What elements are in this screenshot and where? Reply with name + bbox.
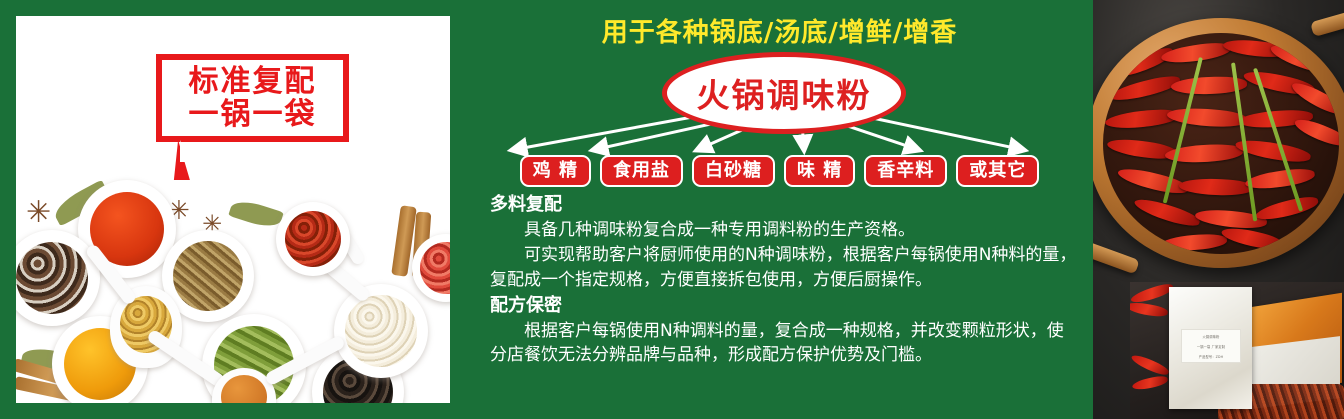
copper-pan (1093, 18, 1344, 268)
pan-handle (1310, 6, 1344, 37)
right-panel: 火锅调味粉 一锅一袋 厂家定制 产品型号：ZDH (1093, 0, 1344, 419)
ingredient-pill-spices[interactable]: 香辛料 (864, 155, 947, 187)
dried-chili (1179, 178, 1254, 197)
bag-label-line: 火锅调味粉 (1182, 334, 1240, 340)
section-paragraph: 根据客户每锅使用N种调料的量，复合成一种规格，并改变颗粒形状，使分店餐饮无法分辨… (490, 319, 1080, 367)
spice-bowl-sesame (334, 284, 428, 378)
dried-chili (1268, 41, 1334, 78)
bag-label-line: 一锅一袋 厂家定制 (1182, 344, 1240, 350)
speech-bubble: 标准复配 一锅一袋 (156, 54, 349, 142)
description-text-block: 多料复配 具备几种调味粉复合成一种专用调料粉的生产资格。 可实现帮助客户将厨师使… (490, 193, 1080, 367)
bay-leaf (228, 196, 284, 231)
center-content-panel: 用于各种锅底/汤底/增鲜/增香 火锅调味粉 鸡 精 食用盐 白砂糖 (466, 0, 1093, 419)
section-heading-formula-secrecy: 配方保密 (490, 294, 1080, 318)
dried-chili (1244, 166, 1316, 192)
promotional-banner: ✳ ✳ ✳ (0, 0, 1344, 419)
dried-chili (1167, 106, 1248, 129)
section-paragraph: 具备几种调味粉复合成一种专用调料粉的生产资格。 (490, 218, 1080, 242)
speech-bubble-tail-inner (180, 140, 192, 162)
dried-chili (1130, 352, 1170, 377)
seasoning-powder-bag: 火锅调味粉 一锅一袋 厂家定制 产品型号：ZDH (1169, 287, 1252, 409)
dried-chili (1220, 225, 1284, 253)
ingredient-pill-others[interactable]: 或其它 (956, 155, 1039, 187)
ingredient-pill-edible-salt[interactable]: 食用盐 (600, 155, 683, 187)
dried-chili (1104, 107, 1179, 131)
dried-chili (1116, 165, 1190, 198)
dried-chili (1130, 300, 1169, 318)
dried-chili (1160, 40, 1232, 66)
product-inset-photo: 火锅调味粉 一锅一袋 厂家定制 产品型号：ZDH (1130, 282, 1344, 419)
bag-label-line: 产品型号：ZDH (1182, 354, 1240, 360)
product-logo-text: 火锅调味粉 (697, 69, 872, 117)
product-bag-label: 火锅调味粉 一锅一袋 厂家定制 产品型号：ZDH (1181, 329, 1241, 363)
ingredient-pill-msg[interactable]: 味 精 (784, 155, 855, 187)
star-anise-icon: ✳ (26, 198, 51, 228)
section-paragraph: 可实现帮助客户将厨师使用的N种调味粉，根据客户每锅使用N种料的量，复配成一个指定… (490, 243, 1080, 291)
dried-chili (1108, 73, 1181, 105)
dried-chili (1254, 193, 1320, 223)
pan-handle (1093, 241, 1140, 275)
ingredient-pill-chicken-essence[interactable]: 鸡 精 (520, 155, 591, 187)
ingredient-pill-white-sugar[interactable]: 白砂糖 (692, 155, 775, 187)
dried-chili (1131, 374, 1168, 391)
dried-chili (1161, 233, 1228, 253)
speech-bubble-text: 标准复配 一锅一袋 (162, 60, 343, 136)
pan-interior (1103, 33, 1339, 254)
product-logo: 火锅调味粉 (662, 52, 906, 134)
bubble-line-2: 一锅一袋 (189, 100, 317, 130)
left-panel: ✳ ✳ ✳ (0, 0, 466, 419)
ingredient-pill-list: 鸡 精 食用盐 白砂糖 味 精 香辛料 或其它 (466, 155, 1093, 187)
bubble-line-1: 标准复配 (189, 67, 317, 97)
dried-chili (1292, 115, 1339, 150)
spice-bowl-red-flakes (276, 202, 350, 276)
